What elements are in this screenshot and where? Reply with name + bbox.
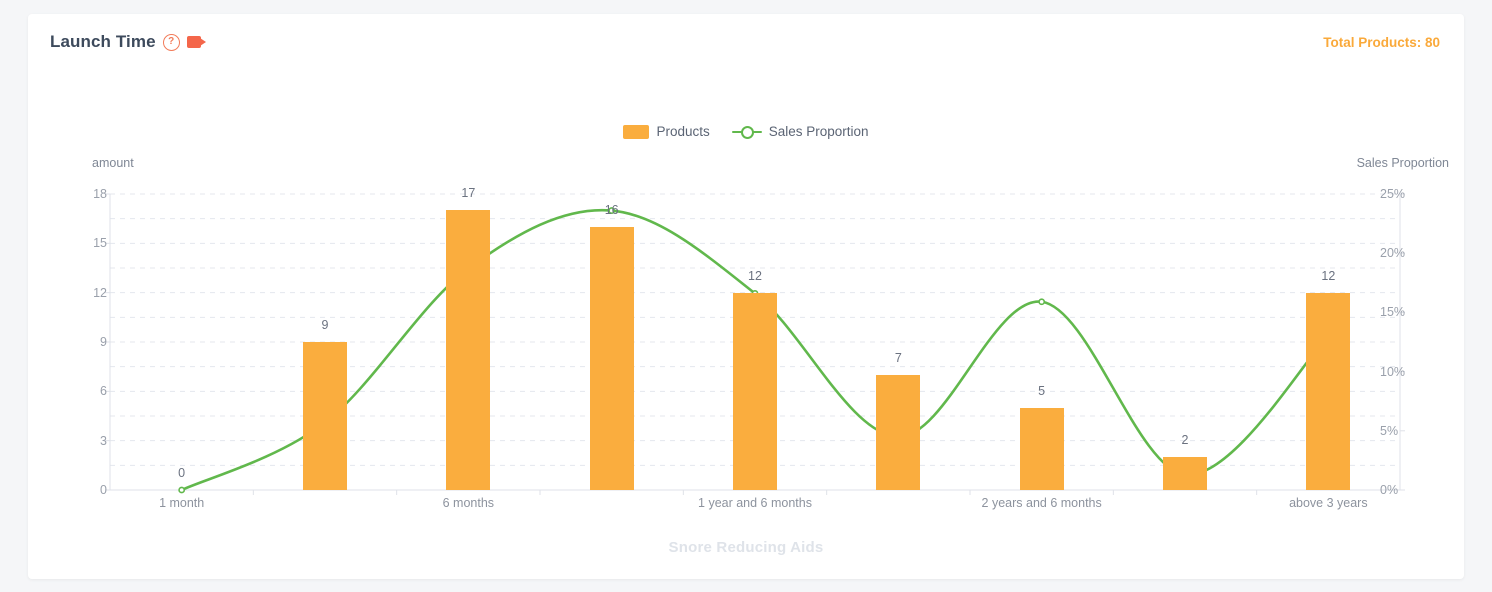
line-data-point[interactable]: [1039, 299, 1044, 304]
page-title: Launch Time: [50, 32, 156, 52]
y-tick-label-right: 25%: [1380, 187, 1440, 201]
line-data-point[interactable]: [896, 434, 901, 439]
y-tick-label-left: 9: [47, 335, 107, 349]
launch-time-card: Launch Time ? Total Products: 80 Product…: [28, 14, 1464, 579]
legend-label-products: Products: [656, 124, 709, 139]
card-title-group: Launch Time ?: [50, 32, 207, 52]
bar[interactable]: [876, 375, 920, 490]
question-mark-icon[interactable]: ?: [163, 34, 180, 51]
total-products-badge: Total Products: 80: [1323, 35, 1440, 50]
y-axis-title-right: Sales Proportion: [1357, 156, 1449, 170]
line-data-point[interactable]: [1326, 333, 1331, 338]
legend-bar-swatch-icon: [623, 125, 649, 139]
y-tick-label-left: 12: [47, 286, 107, 300]
bar-value-label: 7: [895, 351, 902, 365]
sales-proportion-line[interactable]: [182, 210, 1329, 490]
x-axis-category-label: 6 months: [443, 496, 494, 510]
bar-value-label: 12: [1321, 269, 1335, 283]
y-tick-label-right: 0%: [1380, 483, 1440, 497]
chart-canvas: [28, 14, 1464, 579]
x-axis-category-label: above 3 years: [1289, 496, 1368, 510]
bar-value-label: 5: [1038, 384, 1045, 398]
screen: Launch Time ? Total Products: 80 Product…: [0, 0, 1492, 592]
bar-value-label: 0: [178, 466, 185, 480]
y-tick-label-right: 10%: [1380, 365, 1440, 379]
y-tick-label-right: 5%: [1380, 424, 1440, 438]
y-tick-label-left: 18: [47, 187, 107, 201]
y-tick-label-right: 20%: [1380, 246, 1440, 260]
y-tick-label-left: 6: [47, 384, 107, 398]
y-tick-label-left: 15: [47, 236, 107, 250]
bar-value-label: 16: [605, 203, 619, 217]
line-data-point[interactable]: [752, 291, 757, 296]
line-data-point[interactable]: [322, 420, 327, 425]
legend-item-products[interactable]: Products: [623, 124, 709, 139]
y-tick-label-left: 3: [47, 434, 107, 448]
legend-line-swatch-icon: [732, 125, 762, 139]
x-axis-category-label: 2 years and 6 months: [982, 496, 1102, 510]
y-tick-label-right: 15%: [1380, 305, 1440, 319]
y-axis-title-left: amount: [92, 156, 134, 170]
legend-label-sales-proportion: Sales Proportion: [769, 124, 869, 139]
bar[interactable]: [590, 227, 634, 490]
bar[interactable]: [1163, 457, 1207, 490]
card-header: Launch Time ? Total Products: 80: [28, 14, 1464, 76]
x-axis-category-label: 1 year and 6 months: [698, 496, 812, 510]
x-axis-category-label: 1 month: [159, 496, 204, 510]
bar-value-label: 9: [322, 318, 329, 332]
legend-item-sales-proportion[interactable]: Sales Proportion: [732, 124, 869, 139]
chart-plot-area: amount Sales Proportion 03691215180%5%10…: [28, 14, 1464, 579]
bar[interactable]: [733, 293, 777, 490]
line-data-point[interactable]: [609, 208, 614, 213]
video-camera-icon[interactable]: [187, 35, 207, 49]
bar[interactable]: [446, 210, 490, 490]
bar[interactable]: [1020, 408, 1064, 490]
bar[interactable]: [303, 342, 347, 490]
line-data-point[interactable]: [1182, 472, 1187, 477]
bar[interactable]: [1306, 293, 1350, 490]
chart-legend: Products Sales Proportion: [28, 124, 1464, 139]
bar-value-label: 2: [1182, 433, 1189, 447]
line-data-point[interactable]: [179, 487, 184, 492]
line-data-point[interactable]: [466, 266, 471, 271]
y-tick-label-left: 0: [47, 483, 107, 497]
chart-watermark: Snore Reducing Aids: [28, 539, 1464, 556]
bar-value-label: 12: [748, 269, 762, 283]
bar-value-label: 17: [461, 186, 475, 200]
